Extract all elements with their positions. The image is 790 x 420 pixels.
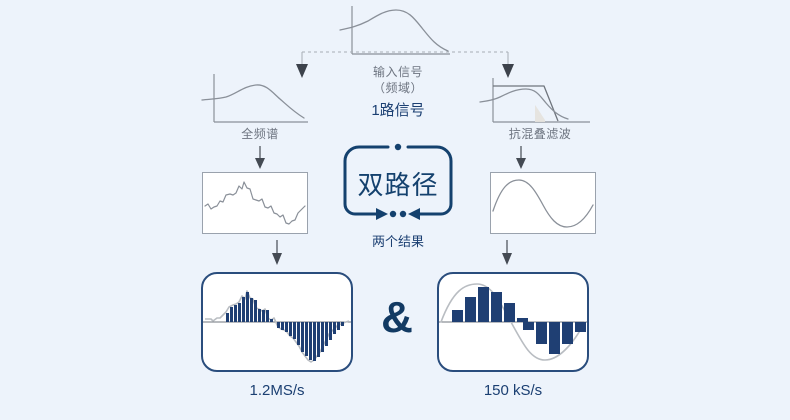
coarse-bars-sine-icon <box>439 274 587 370</box>
combiner-ampersand: & <box>365 296 429 340</box>
dual-path-badge-text: 双路径 <box>342 165 454 202</box>
down-arrow-icon-left-2 <box>268 240 286 266</box>
input-label-line1: 输入信号 <box>340 63 456 80</box>
right-branch-top-label: 抗混叠滤波 <box>480 125 600 142</box>
input-emphasis-label: 1路信号 <box>340 99 456 120</box>
right-sine-waveform-box <box>490 172 596 234</box>
input-label-line2: （频域） <box>340 79 456 96</box>
right-rate-label: 150 kS/s <box>437 382 589 399</box>
down-arrow-icon-right-2 <box>498 240 516 266</box>
left-result-panel <box>201 272 353 372</box>
jagged-waveform-icon <box>203 173 307 233</box>
left-rate-label: 1.2MS/s <box>201 382 353 399</box>
down-arrow-icon-left-1 <box>251 146 269 170</box>
right-result-panel <box>437 272 589 372</box>
two-results-label: 两个结果 <box>340 231 456 250</box>
down-arrow-icon-right-1 <box>512 146 530 170</box>
anti-alias-filter-curve-icon <box>478 72 603 130</box>
diagram-canvas: 输入信号 （频域） 1路信号 全频谱 <box>0 0 790 420</box>
dense-bars-waveform-icon <box>203 274 351 370</box>
sine-waveform-icon <box>491 173 595 233</box>
left-jagged-waveform-box <box>202 172 308 234</box>
left-branch-top-label: 全频谱 <box>205 125 315 142</box>
full-spectrum-curve-icon <box>200 72 320 130</box>
